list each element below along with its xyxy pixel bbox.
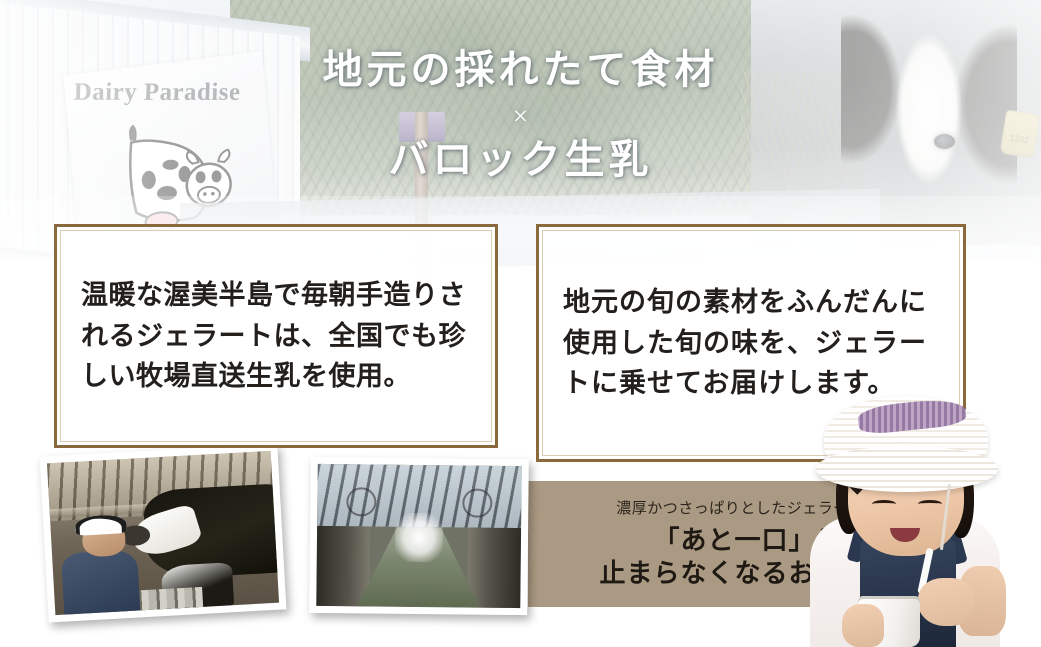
cow-stalls-left <box>316 526 370 606</box>
barn-end-light <box>394 513 443 562</box>
photo-barn-interior <box>309 457 529 615</box>
text-panel-left: 温暖な渥美半島で毎朝手造りされるジェラートは、全国でも珍しい牧場直送生乳を使用。 <box>54 224 498 448</box>
farmer-body <box>61 550 141 615</box>
text-panel-right-body: 地元の旬の素材をふんだんに使用した旬の味を、ジェラートに乗せてお届けします。 <box>563 282 943 404</box>
text-panel-left-body: 温暖な渥美半島で毎朝手造りされるジェラートは、全国でも珍しい牧場直送生乳を使用。 <box>81 275 475 397</box>
child-hand-right <box>918 578 974 626</box>
promo-banner: 1332 Dairy Paradise <box>0 0 1041 647</box>
child-hand-left <box>842 604 884 647</box>
child-hat-brim <box>816 446 998 492</box>
child-eye-left <box>872 500 896 508</box>
photo-barn-interior-image <box>316 464 521 608</box>
text-panel-left-inner: 温暖な渥美半島で毎朝手造りされるジェラートは、全国でも珍しい牧場直送生乳を使用。 <box>60 230 492 442</box>
child-eating-gelato-photo <box>772 388 1032 647</box>
cow-stalls-right <box>467 528 521 608</box>
child-eye-right <box>918 500 942 508</box>
milk-cans <box>130 587 203 611</box>
photo-farmer-with-cow-image <box>47 451 279 615</box>
photo-farmer-with-cow <box>40 443 287 622</box>
